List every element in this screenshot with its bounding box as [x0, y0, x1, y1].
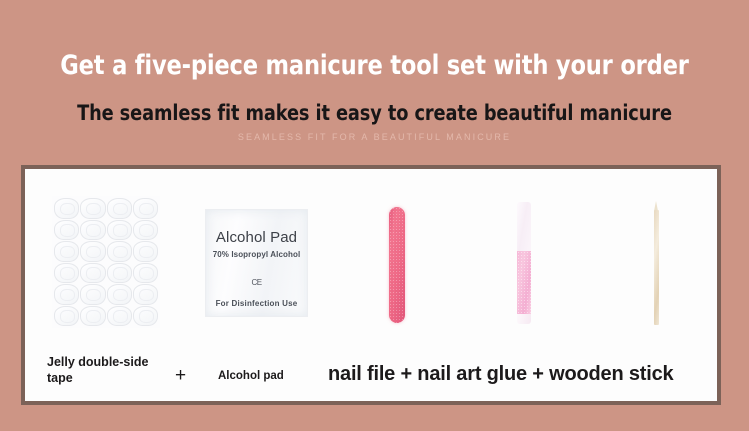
caption-plus-separator: + — [175, 366, 186, 386]
pad-usage-text: For Disinfection Use — [206, 299, 307, 308]
tape-tab — [54, 220, 79, 241]
glue-body — [517, 251, 531, 316]
product-panel: Alcohol Pad 70% Isopropyl Alcohol CE For… — [21, 165, 721, 405]
caption-alcohol-pad: Alcohol pad — [218, 369, 284, 383]
caption-remaining-tools: nail file + nail art glue + wooden stick — [328, 361, 673, 387]
ce-mark: CE — [206, 278, 307, 287]
adhesive-tab-sheet-icon — [52, 196, 160, 328]
tape-tab — [80, 220, 105, 241]
tape-tab — [133, 284, 158, 305]
glue-tube-icon — [517, 202, 531, 324]
tape-tab — [107, 220, 132, 241]
tape-tab — [54, 263, 79, 284]
tape-tab — [133, 306, 158, 327]
stick-body — [654, 210, 659, 325]
tape-tab — [133, 263, 158, 284]
tape-tab — [80, 198, 105, 219]
tape-tab — [133, 198, 158, 219]
glue-cap — [517, 202, 531, 253]
tape-tab — [107, 241, 132, 262]
tape-tab — [54, 241, 79, 262]
tape-tab — [54, 284, 79, 305]
nail-file-icon — [389, 207, 405, 323]
product-image-row: Alcohol Pad 70% Isopropyl Alcohol CE For… — [25, 169, 717, 344]
product-caption-row: Jelly double-side tape + Alcohol pad nai… — [25, 344, 717, 405]
kicker-text: SEAMLESS FIT FOR A BEAUTIFUL MANICURE — [0, 131, 749, 143]
tape-tab — [107, 284, 132, 305]
caption-jelly-tape: Jelly double-side tape — [47, 354, 163, 386]
pad-subtitle-text: 70% Isopropyl Alcohol — [206, 250, 307, 259]
tape-tab — [54, 306, 79, 327]
subtitle: The seamless fit makes it easy to create… — [22, 101, 726, 126]
tape-tab — [80, 306, 105, 327]
tab-grid — [52, 196, 160, 328]
tape-tab — [133, 241, 158, 262]
promo-banner: Get a five-piece manicure tool set with … — [0, 0, 749, 431]
tape-tab — [80, 263, 105, 284]
page-title: Get a five-piece manicure tool set with … — [26, 50, 723, 82]
tape-tab — [107, 263, 132, 284]
tape-tab — [107, 198, 132, 219]
tape-tab — [80, 284, 105, 305]
wooden-cuticle-stick-icon — [654, 201, 659, 325]
alcohol-pad-sachet-icon: Alcohol Pad 70% Isopropyl Alcohol CE For… — [205, 209, 308, 317]
tape-tab — [54, 198, 79, 219]
tape-tab — [133, 220, 158, 241]
tape-tab — [80, 241, 105, 262]
glue-base — [517, 314, 531, 324]
pad-title-text: Alcohol Pad — [206, 229, 307, 246]
tape-tab — [107, 306, 132, 327]
